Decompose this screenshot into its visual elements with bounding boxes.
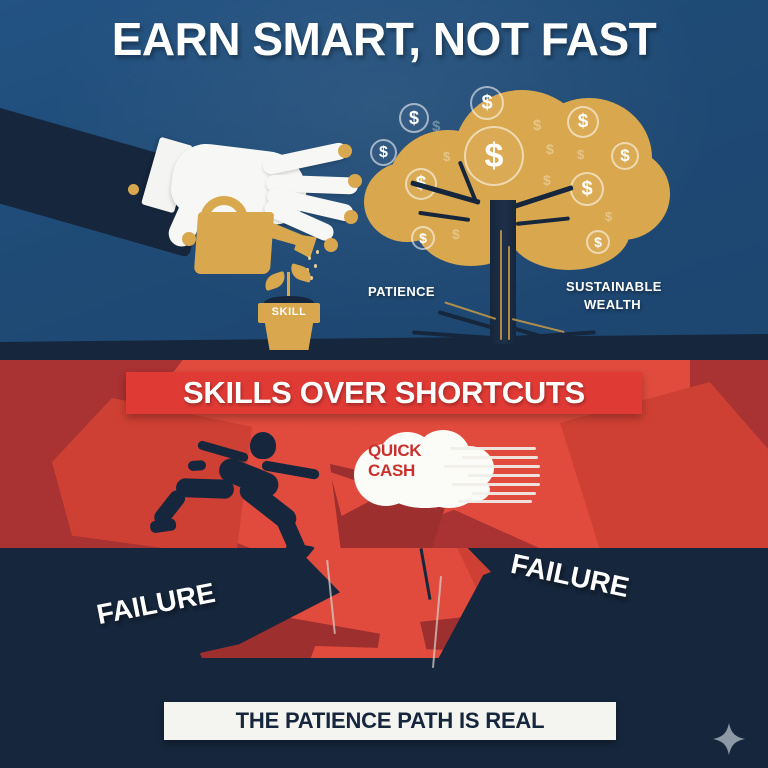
coin-ghost: $ <box>452 226 460 242</box>
coin-ghost: $ <box>432 118 440 135</box>
banner-red-label: SKILLS OVER SHORTCUTS <box>183 375 585 411</box>
speed-line <box>450 447 536 450</box>
water-drop <box>308 256 311 260</box>
coin: $ <box>570 172 604 206</box>
coin: $ <box>411 226 435 250</box>
fingernail-1 <box>338 144 352 158</box>
coin-ghost: $ <box>543 172 551 188</box>
label-wealth: WEALTH <box>584 297 641 313</box>
cloud-line-2: CASH <box>368 461 415 480</box>
coin-ghost: $ <box>577 147 584 162</box>
coin: $ <box>567 106 599 138</box>
banner-white-label: THE PATIENCE PATH IS REAL <box>236 708 545 734</box>
label-sustainable: SUSTAINABLE <box>566 279 662 295</box>
page-title: EARN SMART, NOT FAST <box>0 12 768 66</box>
coin-ghost: $ <box>546 141 554 157</box>
trunk-highlight <box>508 246 510 340</box>
banner-patience-path: THE PATIENCE PATH IS REAL <box>164 702 616 740</box>
skill-pot-label: SKILL <box>258 306 320 318</box>
trunk-highlight <box>500 230 502 340</box>
coin-ghost: $ <box>605 209 612 224</box>
water-drop <box>314 264 317 268</box>
watering-can-icon <box>194 212 274 274</box>
coin: $ <box>370 139 397 166</box>
speed-line <box>468 474 540 477</box>
coin: $ <box>586 230 610 254</box>
running-person-icon <box>190 432 370 562</box>
coin-large: $ <box>464 126 524 186</box>
banner-skills-over-shortcuts: SKILLS OVER SHORTCUTS <box>126 372 642 414</box>
sparkle-icon <box>712 722 746 756</box>
fingernail-3 <box>344 210 358 224</box>
fingernail-thumb <box>182 232 196 246</box>
speed-line <box>462 456 538 459</box>
speed-line <box>452 483 540 486</box>
coin: $ <box>399 103 429 133</box>
fingernail-4 <box>324 238 338 252</box>
coin: $ <box>611 142 639 170</box>
label-patience: PATIENCE <box>368 284 435 300</box>
speed-line <box>444 465 540 468</box>
speed-line <box>472 492 536 495</box>
water-drop <box>316 250 319 254</box>
coin-ghost: $ <box>533 117 541 134</box>
ground-line <box>330 344 660 353</box>
speed-line <box>458 500 532 503</box>
cloud-line-1: QUICK <box>368 441 421 460</box>
cufflink-icon <box>128 184 139 195</box>
poster-root: EARN SMART, NOT FAST SKILL $ $ $ $ <box>0 0 768 768</box>
coin-ghost: $ <box>443 149 450 164</box>
coin: $ <box>470 86 504 120</box>
